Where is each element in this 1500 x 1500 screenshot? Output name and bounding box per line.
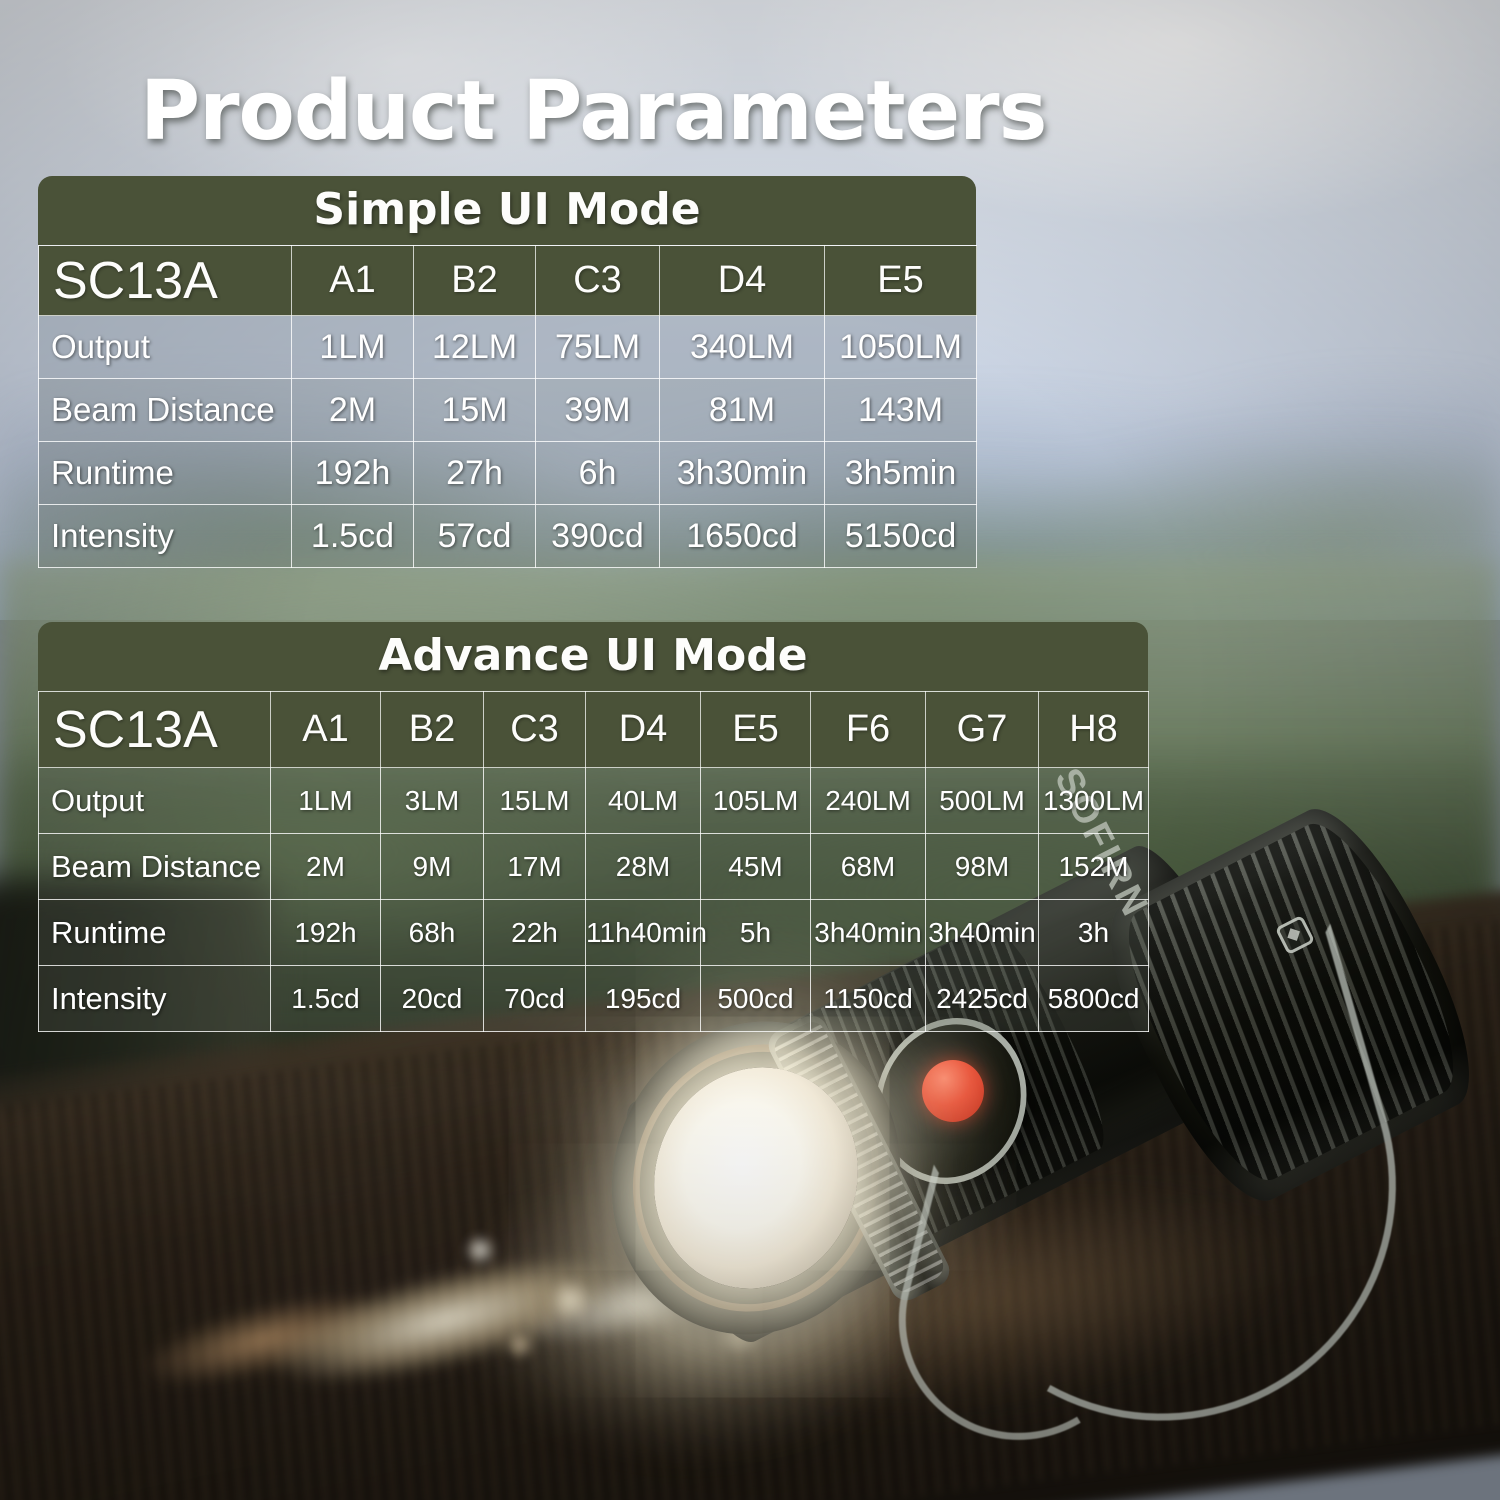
cell-beam-a1: 2M (292, 379, 414, 442)
row-label-beam-distance: Beam Distance (39, 379, 292, 442)
cell-intensity-g7: 2425cd (926, 966, 1039, 1032)
advance-ui-mode-table-block: Advance UI Mode SC13A A1 B2 C3 D4 E5 F6 … (38, 622, 1148, 1032)
column-header-a1: A1 (271, 692, 381, 768)
cell-runtime-f6: 3h40min (811, 900, 926, 966)
column-header-a1: A1 (292, 246, 414, 316)
cell-beam-a1: 2M (271, 834, 381, 900)
row-label-output: Output (39, 316, 292, 379)
model-name-cell: SC13A (39, 692, 271, 768)
row-label-runtime: Runtime (39, 442, 292, 505)
cell-runtime-e5: 3h5min (825, 442, 977, 505)
row-label-runtime: Runtime (39, 900, 271, 966)
cell-intensity-b2: 20cd (381, 966, 484, 1032)
cell-output-h8: 1300LM (1039, 768, 1149, 834)
cell-intensity-c3: 390cd (536, 505, 660, 568)
cell-beam-b2: 15M (414, 379, 536, 442)
cell-output-e5: 1050LM (825, 316, 977, 379)
cell-intensity-e5: 5150cd (825, 505, 977, 568)
advance-ui-mode-title: Advance UI Mode (38, 622, 1148, 691)
cell-runtime-c3: 6h (536, 442, 660, 505)
cell-intensity-c3: 70cd (484, 966, 586, 1032)
row-label-intensity: Intensity (39, 505, 292, 568)
cell-beam-c3: 39M (536, 379, 660, 442)
cell-runtime-b2: 27h (414, 442, 536, 505)
column-header-d4: D4 (586, 692, 701, 768)
cell-runtime-b2: 68h (381, 900, 484, 966)
table-row: Intensity 1.5cd 57cd 390cd 1650cd 5150cd (39, 505, 977, 568)
table-row: Output 1LM 3LM 15LM 40LM 105LM 240LM 500… (39, 768, 1149, 834)
cell-runtime-a1: 192h (292, 442, 414, 505)
cell-runtime-d4: 11h40min (586, 900, 701, 966)
advance-ui-mode-table: SC13A A1 B2 C3 D4 E5 F6 G7 H8 Output 1LM… (38, 691, 1149, 1032)
column-header-b2: B2 (381, 692, 484, 768)
column-header-c3: C3 (484, 692, 586, 768)
cell-runtime-c3: 22h (484, 900, 586, 966)
cell-intensity-d4: 1650cd (660, 505, 825, 568)
cell-runtime-d4: 3h30min (660, 442, 825, 505)
cell-beam-c3: 17M (484, 834, 586, 900)
cell-output-a1: 1LM (292, 316, 414, 379)
simple-ui-mode-title: Simple UI Mode (38, 176, 976, 245)
cell-output-c3: 75LM (536, 316, 660, 379)
cell-output-g7: 500LM (926, 768, 1039, 834)
cell-beam-e5: 45M (701, 834, 811, 900)
table-row: Runtime 192h 27h 6h 3h30min 3h5min (39, 442, 977, 505)
cell-intensity-b2: 57cd (414, 505, 536, 568)
cell-output-e5: 105LM (701, 768, 811, 834)
cell-runtime-e5: 5h (701, 900, 811, 966)
simple-ui-mode-table: SC13A A1 B2 C3 D4 E5 Output 1LM 12LM 75L… (38, 245, 977, 568)
model-name-cell: SC13A (39, 246, 292, 316)
row-label-intensity: Intensity (39, 966, 271, 1032)
cell-output-b2: 3LM (381, 768, 484, 834)
cell-beam-f6: 68M (811, 834, 926, 900)
cell-beam-b2: 9M (381, 834, 484, 900)
cell-beam-h8: 152M (1039, 834, 1149, 900)
table-row: Intensity 1.5cd 20cd 70cd 195cd 500cd 11… (39, 966, 1149, 1032)
cell-beam-d4: 28M (586, 834, 701, 900)
cell-intensity-f6: 1150cd (811, 966, 926, 1032)
row-label-output: Output (39, 768, 271, 834)
table-row: Beam Distance 2M 15M 39M 81M 143M (39, 379, 977, 442)
cell-intensity-a1: 1.5cd (271, 966, 381, 1032)
column-header-f6: F6 (811, 692, 926, 768)
column-header-h8: H8 (1039, 692, 1149, 768)
column-header-d4: D4 (660, 246, 825, 316)
column-header-e5: E5 (825, 246, 977, 316)
simple-ui-mode-table-block: Simple UI Mode SC13A A1 B2 C3 D4 E5 Outp… (38, 176, 976, 568)
cell-beam-d4: 81M (660, 379, 825, 442)
table-header-row: SC13A A1 B2 C3 D4 E5 (39, 246, 977, 316)
table-header-row: SC13A A1 B2 C3 D4 E5 F6 G7 H8 (39, 692, 1149, 768)
cell-intensity-e5: 500cd (701, 966, 811, 1032)
cell-runtime-g7: 3h40min (926, 900, 1039, 966)
table-row: Beam Distance 2M 9M 17M 28M 45M 68M 98M … (39, 834, 1149, 900)
cell-output-f6: 240LM (811, 768, 926, 834)
column-header-b2: B2 (414, 246, 536, 316)
cell-runtime-a1: 192h (271, 900, 381, 966)
cell-output-d4: 40LM (586, 768, 701, 834)
cell-beam-e5: 143M (825, 379, 977, 442)
table-row: Output 1LM 12LM 75LM 340LM 1050LM (39, 316, 977, 379)
cell-output-a1: 1LM (271, 768, 381, 834)
cell-runtime-h8: 3h (1039, 900, 1149, 966)
column-header-e5: E5 (701, 692, 811, 768)
column-header-c3: C3 (536, 246, 660, 316)
cell-output-c3: 15LM (484, 768, 586, 834)
cell-beam-g7: 98M (926, 834, 1039, 900)
cell-intensity-d4: 195cd (586, 966, 701, 1032)
row-label-beam-distance: Beam Distance (39, 834, 271, 900)
page-title: Product Parameters (140, 64, 1046, 159)
column-header-g7: G7 (926, 692, 1039, 768)
table-row: Runtime 192h 68h 22h 11h40min 5h 3h40min… (39, 900, 1149, 966)
cell-intensity-h8: 5800cd (1039, 966, 1149, 1032)
cell-output-d4: 340LM (660, 316, 825, 379)
cell-output-b2: 12LM (414, 316, 536, 379)
cell-intensity-a1: 1.5cd (292, 505, 414, 568)
